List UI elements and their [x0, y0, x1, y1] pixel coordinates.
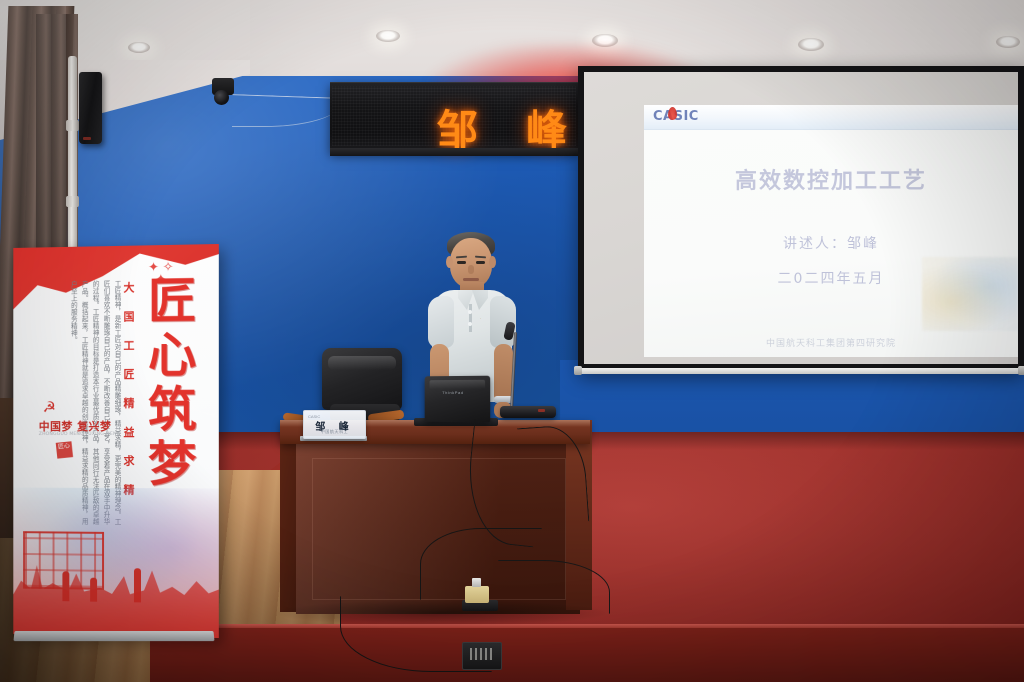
person-eye — [476, 261, 485, 264]
person-mouth — [463, 278, 479, 281]
person-ear — [446, 256, 453, 268]
screen-bottom-rod — [578, 368, 1024, 374]
person-ear — [489, 256, 496, 268]
slide-header-band — [644, 105, 1018, 130]
slide-footer: 中国航天科工集团第四研究院 — [644, 336, 1018, 349]
banner-main-title: 匠心筑梦 — [132, 275, 203, 493]
ceiling-downlight — [128, 42, 150, 53]
slide-presenter: 讲述人：邹峰 — [644, 233, 1018, 253]
projected-slide: CASIC 高效数控加工工艺 讲述人：邹峰 二0二四年五月 中国航天科工集团第四… — [644, 105, 1018, 357]
banner-seal: 匠心 — [56, 441, 73, 458]
led-sign-frame — [330, 148, 578, 156]
slide-title: 高效数控加工工艺 — [644, 163, 1018, 195]
microphone-indicator-led — [538, 409, 545, 412]
banner-base-stand — [13, 631, 214, 641]
nameplate-subtext: 中国航天科工 — [304, 429, 365, 435]
ceiling-downlight — [798, 38, 824, 51]
led-scrolling-sign: 邹 峰 — [330, 82, 578, 152]
floor-socket-contacts — [470, 648, 492, 660]
ceiling-downlight — [376, 30, 400, 42]
led-sign-text: 邹 峰 — [437, 96, 584, 156]
stage-front-riser — [150, 628, 1024, 682]
person-shirt-logo: · — [480, 316, 481, 321]
screen-rod-end — [574, 366, 582, 375]
banner-dream-pinyin: ZHONGGUO MENG FUXING MENG — [39, 432, 121, 437]
person-shirt-placket — [469, 304, 472, 332]
ceiling-downlight — [996, 36, 1020, 48]
power-transformer — [465, 586, 489, 603]
microphone-base — [500, 406, 556, 418]
person-sleeve — [428, 296, 454, 348]
office-chair-back — [322, 348, 402, 410]
laptop-brand-label: ThinkPad — [442, 390, 463, 395]
wall-speaker-icon — [79, 72, 102, 144]
person-shirt-button — [468, 322, 472, 326]
pipe-joint — [66, 120, 79, 131]
casic-flame-icon — [668, 107, 677, 120]
power-plug-icon — [472, 578, 481, 587]
camera-lens-icon — [214, 90, 229, 105]
banner-subtitle: 大 国 工 匠 精 益 求 精 — [120, 282, 136, 502]
slide-date: 二0二四年五月 — [644, 268, 1018, 288]
person-nose — [468, 265, 474, 274]
person-shirt-button — [468, 310, 472, 314]
pipe-joint — [66, 196, 79, 207]
screen-rod-end — [1018, 366, 1024, 375]
desk-nameplate: CASIC 邹 峰 中国航天科工 — [303, 410, 366, 439]
laptop: ThinkPad — [425, 376, 491, 423]
party-emblem-icon: ☭ — [43, 400, 60, 416]
person-eye — [457, 261, 466, 264]
lecture-hall-photo: 邹 峰 CASIC 高效数控加工工艺 讲述人：邹峰 二0二四年五月 中国航天科工… — [0, 0, 1024, 682]
roll-up-banner: ✦ ✧ ✦ 匠心筑梦 大 国 工 匠 精 益 求 精 工匠精神，是新工匠对自己的… — [13, 244, 219, 638]
